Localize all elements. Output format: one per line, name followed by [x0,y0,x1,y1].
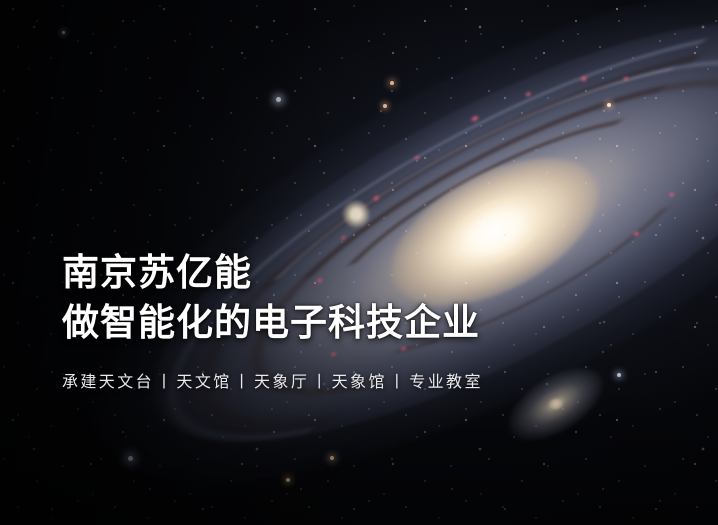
hero-subtitle: 承建天文台丨天文馆丨天象厅丨天象馆丨专业教室 [62,368,662,392]
hero-banner: 南京苏亿能 做智能化的电子科技企业 承建天文台丨天文馆丨天象厅丨天象馆丨专业教室 [0,0,718,525]
subtitle-separator: 丨 [309,368,331,392]
hero-headline-line-1: 南京苏亿能 [62,248,662,298]
subtitle-item: 天象厅 [254,374,309,391]
subtitle-item: 天象馆 [332,374,387,391]
subtitle-item: 专业教室 [409,374,483,391]
subtitle-separator: 丨 [232,368,254,392]
hero-headline-line-2: 做智能化的电子科技企业 [62,298,662,348]
subtitle-item: 承建天文台 [62,374,154,391]
subtitle-item: 天文馆 [176,374,231,391]
subtitle-separator: 丨 [154,368,176,392]
subtitle-separator: 丨 [387,368,409,392]
hero-copy: 南京苏亿能 做智能化的电子科技企业 承建天文台丨天文馆丨天象厅丨天象馆丨专业教室 [62,248,662,392]
